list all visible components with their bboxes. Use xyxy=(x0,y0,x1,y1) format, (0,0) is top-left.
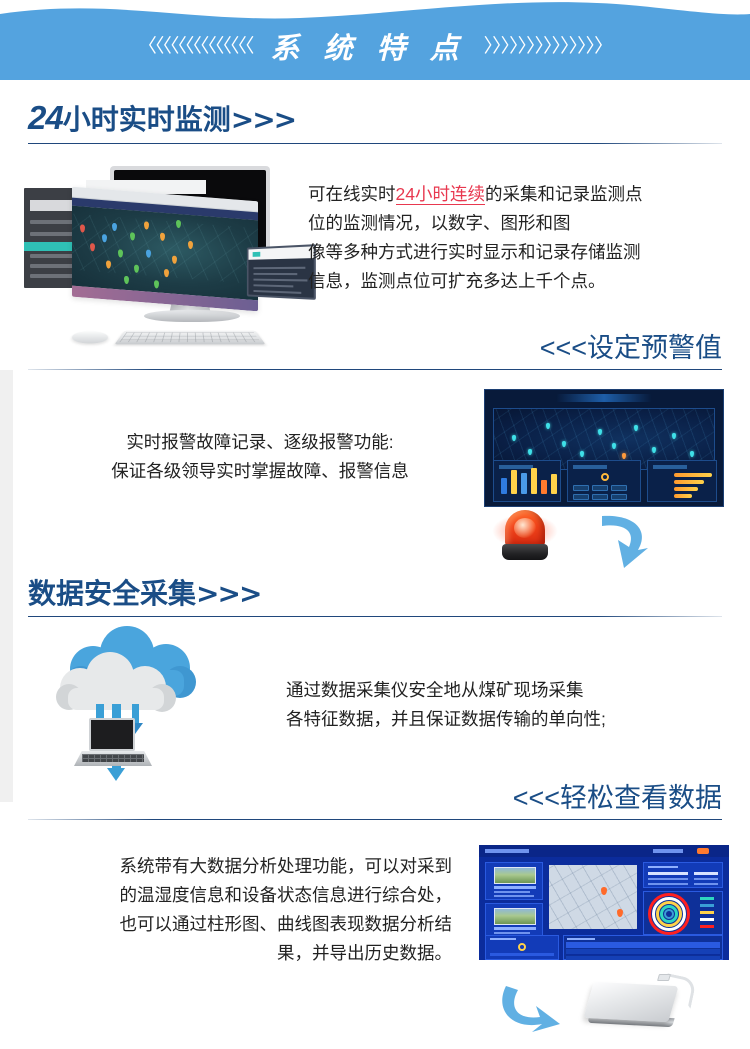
map-pin xyxy=(176,220,181,228)
section-4-paragraph: 系统带有大数据分析处理功能，可以对采到 的温湿度信息和设备状态信息进行综合处， … xyxy=(22,852,452,968)
panel-caption xyxy=(499,465,533,469)
tablet-toolbar xyxy=(249,246,314,259)
section-heading-realtime-monitoring: 24小时实时监测>>> xyxy=(28,98,295,138)
beacon-dome xyxy=(505,510,545,546)
tablet-content-line xyxy=(253,279,307,282)
bar xyxy=(521,473,527,494)
banner-right-chevrons: 〉〉〉〉〉〉〉〉〉〉〉〉〉〉 xyxy=(484,37,613,56)
ring-chart-card xyxy=(643,891,723,935)
map-pin xyxy=(652,447,656,453)
paragraph-line: 通过数据采集仪安全地从煤矿现场采集 xyxy=(286,676,606,705)
highlight-text: 24小时连续 xyxy=(396,184,485,205)
legend-swatch xyxy=(700,904,714,907)
red-alarm-beacon-icon xyxy=(492,508,562,566)
paragraph-line: 保证各级领导实时掌握故障、报警信息 xyxy=(60,457,460,486)
data-table xyxy=(563,935,723,960)
dashboard-title-bar xyxy=(556,394,652,402)
control-button xyxy=(592,485,608,491)
map-pin xyxy=(690,451,694,457)
map-pin xyxy=(562,441,566,447)
map-pin xyxy=(118,249,123,257)
dashboard-alert-badge xyxy=(697,848,709,854)
map-pin xyxy=(134,265,139,273)
laptop-keyboard xyxy=(82,754,144,762)
map-pin xyxy=(512,435,516,441)
beacon-bulb xyxy=(514,518,536,538)
map-pin xyxy=(672,433,676,439)
tagline-easy-view-data: <<<轻松查看数据 xyxy=(513,776,722,815)
laptop-screen xyxy=(89,718,135,751)
dashboard-nav-item xyxy=(653,849,683,853)
control-button xyxy=(592,494,608,500)
divider-rule-4 xyxy=(28,819,722,820)
site-card xyxy=(485,862,543,900)
gauge-icon xyxy=(518,943,526,951)
paragraph-line: 位的监测情况，以数字、图形和图 xyxy=(308,209,642,238)
section-3-paragraph: 通过数据采集仪安全地从煤矿现场采集 各特征数据，并且保证数据传输的单向性; xyxy=(286,676,606,734)
monitor-stand-base xyxy=(144,310,240,322)
marketing-page: 〈〈〈〈〈〈〈〈〈〈〈〈〈〈 系 统 特 点 〉〉〉〉〉〉〉〉〉〉〉〉〉〉 24… xyxy=(0,0,750,1049)
table-caption xyxy=(567,938,595,940)
usb-plug xyxy=(657,974,671,981)
map-pin xyxy=(528,449,532,455)
paragraph-line: 的温湿度信息和设备状态信息进行综合处， xyxy=(22,881,452,910)
tablet-content-line xyxy=(253,290,301,294)
status-gauge-icon xyxy=(601,473,609,481)
hbar xyxy=(674,487,698,491)
paragraph-line: 也可以通过柱形图、曲线图表现数据分析结 xyxy=(22,910,452,939)
panel-caption xyxy=(573,465,607,469)
tablet-content-line xyxy=(253,267,305,269)
hbar xyxy=(674,473,712,477)
info-card xyxy=(643,862,723,888)
section-heading-secure-data-collection: 数据安全采集>>> xyxy=(28,572,260,612)
map-pin xyxy=(102,234,107,242)
map-pin-alert xyxy=(622,453,626,459)
bar xyxy=(541,480,547,494)
region-map xyxy=(549,865,637,929)
bar-chart-panel xyxy=(493,460,561,502)
map-pin xyxy=(160,233,165,241)
divider-rule-2 xyxy=(28,369,722,370)
heading-number: 24 xyxy=(28,99,63,136)
site-photo xyxy=(494,867,536,884)
map-pin xyxy=(154,280,159,288)
heading-text: 数据安全采集 xyxy=(28,578,196,609)
table-row xyxy=(566,949,720,955)
map-pin xyxy=(634,425,638,431)
heading-arrows: >>> xyxy=(231,103,295,136)
dark-blue-monitoring-dashboard-image xyxy=(484,389,724,507)
ring-blue xyxy=(664,909,674,919)
hard-drive-body xyxy=(583,982,678,1023)
beacon-base xyxy=(502,544,548,560)
hbar xyxy=(674,494,692,498)
page-banner: 〈〈〈〈〈〈〈〈〈〈〈〈〈〈 系 统 特 点 〉〉〉〉〉〉〉〉〉〉〉〉〉〉 xyxy=(0,0,750,80)
control-button xyxy=(611,485,627,491)
control-button xyxy=(573,494,589,500)
bar xyxy=(531,468,537,494)
table-row xyxy=(566,956,720,960)
tagline-set-alarm-threshold: <<<设定预警值 xyxy=(540,326,722,365)
section-2-paragraph: 实时报警故障记录、逐级报警功能: 保证各级领导实时掌握故障、报警信息 xyxy=(60,428,460,486)
app-logo xyxy=(30,200,72,211)
map-pin xyxy=(90,243,95,251)
site-photo xyxy=(494,908,536,925)
dashboard-window-overlay xyxy=(72,187,258,312)
bar xyxy=(511,470,517,494)
map-pin xyxy=(130,232,135,240)
legend-swatch xyxy=(700,918,714,921)
map-pin xyxy=(612,443,616,449)
map-pin xyxy=(106,260,111,268)
dashboard-brand xyxy=(485,849,529,853)
map-pin xyxy=(546,423,550,429)
control-button xyxy=(573,485,589,491)
paragraph-line: 像等多种方式进行实时显示和记录存储监测 xyxy=(308,238,642,267)
external-hard-drive-icon xyxy=(560,970,710,1040)
divider-rule-1 xyxy=(28,143,722,144)
divider-rule-3 xyxy=(28,616,722,617)
map-pin xyxy=(580,451,584,457)
banner-left-chevrons: 〈〈〈〈〈〈〈〈〈〈〈〈〈〈 xyxy=(138,37,253,56)
tablet-accent-button xyxy=(253,252,261,257)
map-pin xyxy=(188,241,193,249)
tablet-content-line xyxy=(253,284,293,287)
banner-title: 系 统 特 点 xyxy=(270,25,465,67)
map-pin xyxy=(601,887,607,895)
table-header-row xyxy=(566,942,720,948)
panel-caption xyxy=(653,465,687,469)
download-arrow-head xyxy=(107,768,125,781)
heading-arrows: >>> xyxy=(196,577,260,610)
control-card xyxy=(485,935,559,960)
legend-swatch xyxy=(700,911,714,914)
section-1-paragraph: 可在线实时24小时连续的采集和记录监测点 位的监测情况，以数字、图形和图 像等多… xyxy=(308,180,642,296)
tablet-content-line xyxy=(253,273,297,275)
monitoring-map xyxy=(72,206,258,301)
keyboard xyxy=(115,331,266,345)
paragraph-line: 信息，监测点位可扩充多达上千个点。 xyxy=(308,267,642,296)
blue-analytics-dashboard-image xyxy=(479,845,729,960)
map-pin xyxy=(80,224,85,232)
desktop-computer-monitoring-dashboard-image xyxy=(24,158,324,358)
map-pin xyxy=(146,250,151,258)
curved-arrow-down-left-icon xyxy=(588,512,658,572)
paragraph-line: 系统带有大数据分析处理功能，可以对采到 xyxy=(22,852,452,881)
tablet-device xyxy=(247,244,316,300)
horizontal-bar-panel xyxy=(647,460,717,502)
map-pin xyxy=(617,909,623,917)
curved-arrow-right-icon xyxy=(498,974,564,1034)
map-pin xyxy=(144,221,149,229)
map-pin xyxy=(124,276,129,284)
bar xyxy=(551,474,557,494)
legend-swatch xyxy=(700,925,714,928)
map-pin xyxy=(598,429,602,435)
left-edge-strip xyxy=(0,370,13,802)
control-button xyxy=(611,494,627,500)
bar xyxy=(501,478,507,494)
paragraph-line: 实时报警故障记录、逐级报警功能: xyxy=(60,428,460,457)
heading-text: 小时实时监测 xyxy=(63,104,231,135)
paragraph-line: 可在线实时24小时连续的采集和记录监测点 xyxy=(308,180,642,209)
hbar xyxy=(674,480,704,484)
cloud-to-laptop-data-transfer-image xyxy=(56,620,216,800)
legend-swatch xyxy=(700,897,714,900)
map-pin xyxy=(112,223,117,231)
control-panel xyxy=(567,460,641,502)
paragraph-line: 果，并导出历史数据。 xyxy=(22,939,452,968)
map-pin xyxy=(164,269,169,277)
mouse xyxy=(71,331,109,343)
map-pin xyxy=(172,256,177,264)
paragraph-line: 各特征数据，并且保证数据传输的单向性; xyxy=(286,705,606,734)
